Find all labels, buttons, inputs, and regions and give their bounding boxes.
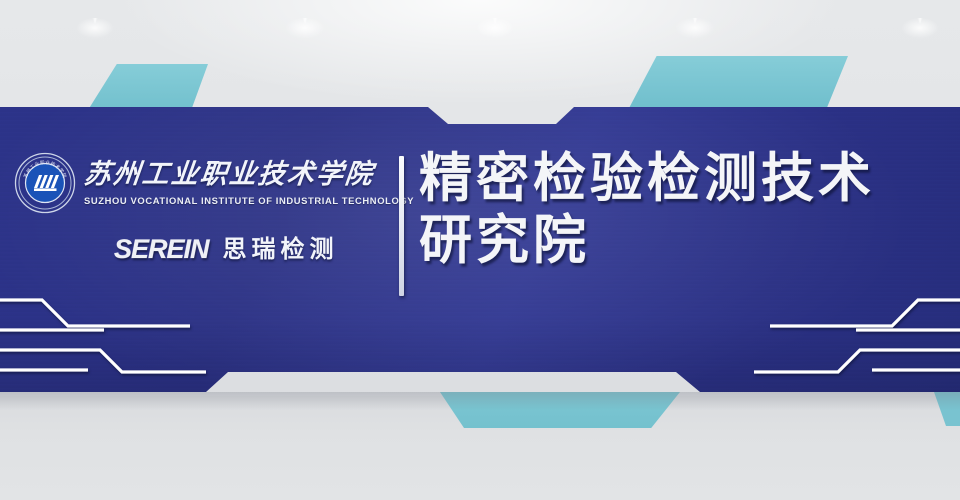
headline-line-2: 研究院 — [419, 210, 947, 272]
university-crest-icon: 苏州工业职业技术学院 — [14, 152, 76, 214]
university-row: 苏州工业职业技术学院 苏州工业职业技术学院 SUZHOU VOCATIONAL … — [14, 152, 392, 214]
partner-lockup: SEREIN 思瑞检测 — [14, 236, 392, 263]
university-names: 苏州工业职业技术学院 SUZHOU VOCATIONAL INSTITUTE O… — [84, 160, 414, 205]
banner-content: 苏州工业职业技术学院 苏州工业职业技术学院 SUZHOU VOCATIONAL … — [0, 104, 960, 400]
university-lockup: 苏州工业职业技术学院 苏州工业职业技术学院 SUZHOU VOCATIONAL … — [14, 152, 392, 263]
banner-scene: 苏州工业职业技术学院 苏州工业职业技术学院 SUZHOU VOCATIONAL … — [0, 0, 960, 500]
serein-name-cn: 思瑞检测 — [223, 238, 339, 262]
teal-trapezoid-top-right — [628, 56, 848, 110]
university-name-cn: 苏州工业职业技术学院 — [82, 160, 415, 189]
institute-headline: 精密检验检测技术 研究院 — [419, 148, 947, 272]
serein-wordmark: SEREIN — [114, 236, 209, 263]
university-name-en: SUZHOU VOCATIONAL INSTITUTE OF INDUSTRIA… — [84, 195, 414, 206]
headline-line-1: 精密检验检测技术 — [419, 148, 947, 210]
vertical-divider — [399, 156, 404, 296]
